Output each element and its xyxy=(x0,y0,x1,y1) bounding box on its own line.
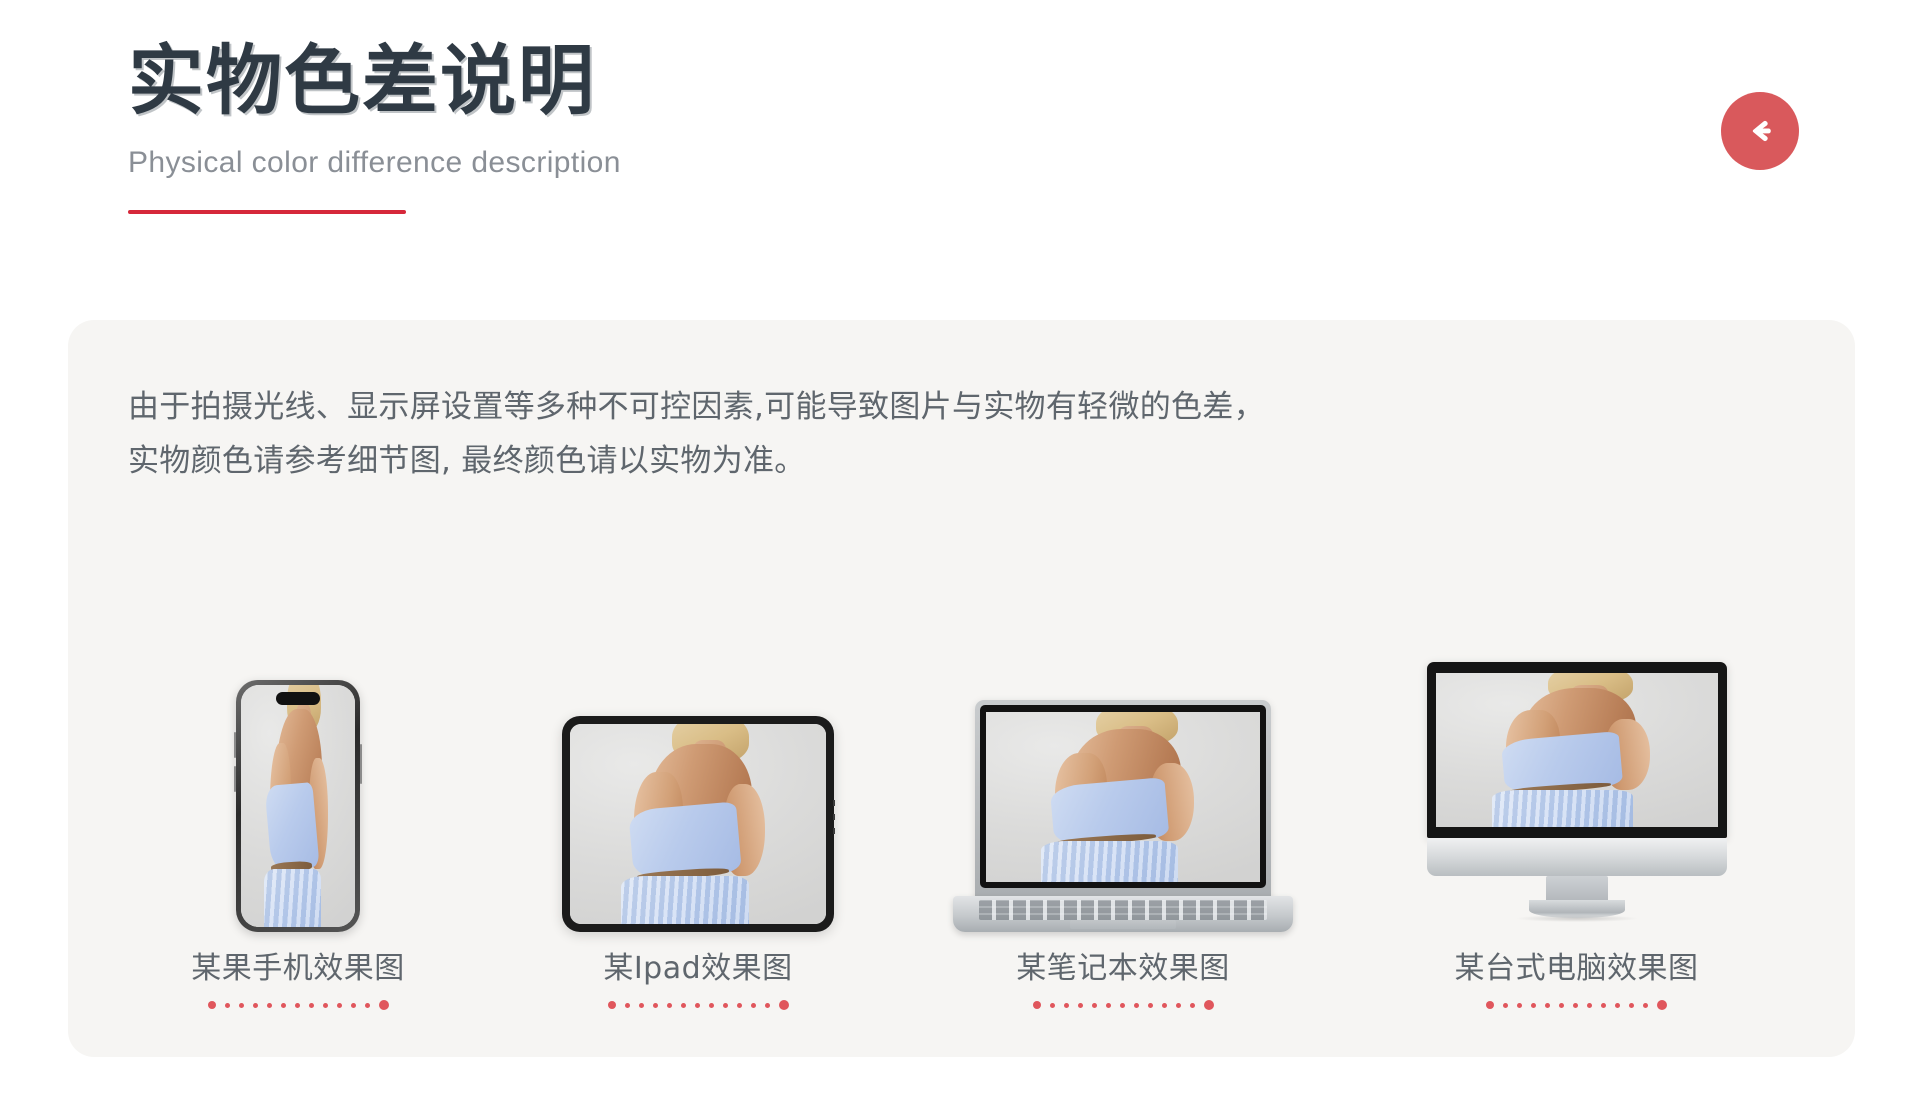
product-photo-desktop xyxy=(1436,673,1718,827)
monitor-shadow xyxy=(1517,915,1637,922)
page-subtitle: Physical color difference description xyxy=(128,146,1828,180)
phone-stage xyxy=(108,572,488,932)
color-difference-description: 由于拍摄光线、显示屏设置等多种不可控因素,可能导致图片与实物有轻微的色差， 实物… xyxy=(128,380,1265,488)
phone-volume-up-button xyxy=(234,732,236,758)
dynamic-island xyxy=(276,692,320,705)
info-card: 由于拍摄光线、显示屏设置等多种不可控因素,可能导致图片与实物有轻微的色差， 实物… xyxy=(68,320,1855,1057)
tablet-mockup xyxy=(562,716,834,932)
device-caption-laptop: 某笔记本效果图 xyxy=(1016,952,1230,986)
laptop-screen xyxy=(986,712,1260,882)
device-caption-desktop: 某台式电脑效果图 xyxy=(1455,952,1699,986)
device-item-tablet: 某Ipad效果图 xyxy=(488,550,908,1010)
tablet-side-buttons xyxy=(833,800,835,844)
tablet-screen xyxy=(570,724,826,924)
title-underline-rule xyxy=(128,210,406,214)
monitor-bezel xyxy=(1427,662,1727,838)
phone-screen xyxy=(241,685,355,927)
arrow-left-icon xyxy=(1740,111,1780,151)
device-item-desktop: 某台式电脑效果图 xyxy=(1338,550,1815,1010)
laptop-lid xyxy=(975,700,1271,902)
dot-divider-desktop xyxy=(1486,1000,1667,1010)
page-title: 实物色差说明 xyxy=(128,38,1828,124)
page-root: 实物色差说明 Physical color difference descrip… xyxy=(0,0,1920,1094)
desktop-screen xyxy=(1436,673,1718,827)
product-photo-laptop xyxy=(986,712,1260,882)
smartphone-mockup xyxy=(236,680,360,932)
device-mockup-row: 某果手机效果图 xyxy=(108,550,1815,1010)
desktop-stage xyxy=(1338,572,1815,932)
device-caption-tablet: 某Ipad效果图 xyxy=(603,952,792,986)
dot-divider-laptop xyxy=(1033,1000,1214,1010)
dot-divider-tablet xyxy=(608,1000,789,1010)
laptop-keyboard xyxy=(979,900,1267,920)
device-item-laptop: 某笔记本效果图 xyxy=(908,550,1338,1010)
back-button[interactable] xyxy=(1721,92,1799,170)
dot-divider-phone xyxy=(208,1000,389,1010)
page-header: 实物色差说明 Physical color difference descrip… xyxy=(128,38,1828,214)
laptop-stage xyxy=(908,572,1338,932)
laptop-base xyxy=(953,896,1293,932)
monitor-chin xyxy=(1427,838,1727,876)
desktop-monitor-mockup xyxy=(1427,662,1727,932)
device-caption-phone: 某果手机效果图 xyxy=(191,952,405,986)
product-photo-phone xyxy=(241,685,355,927)
product-photo-tablet xyxy=(570,724,826,924)
laptop-trackpad xyxy=(1070,920,1176,929)
phone-power-button xyxy=(360,744,362,784)
laptop-mockup xyxy=(953,700,1293,932)
tablet-stage xyxy=(488,572,908,932)
device-item-phone: 某果手机效果图 xyxy=(108,550,488,1010)
phone-volume-down-button xyxy=(234,766,236,792)
